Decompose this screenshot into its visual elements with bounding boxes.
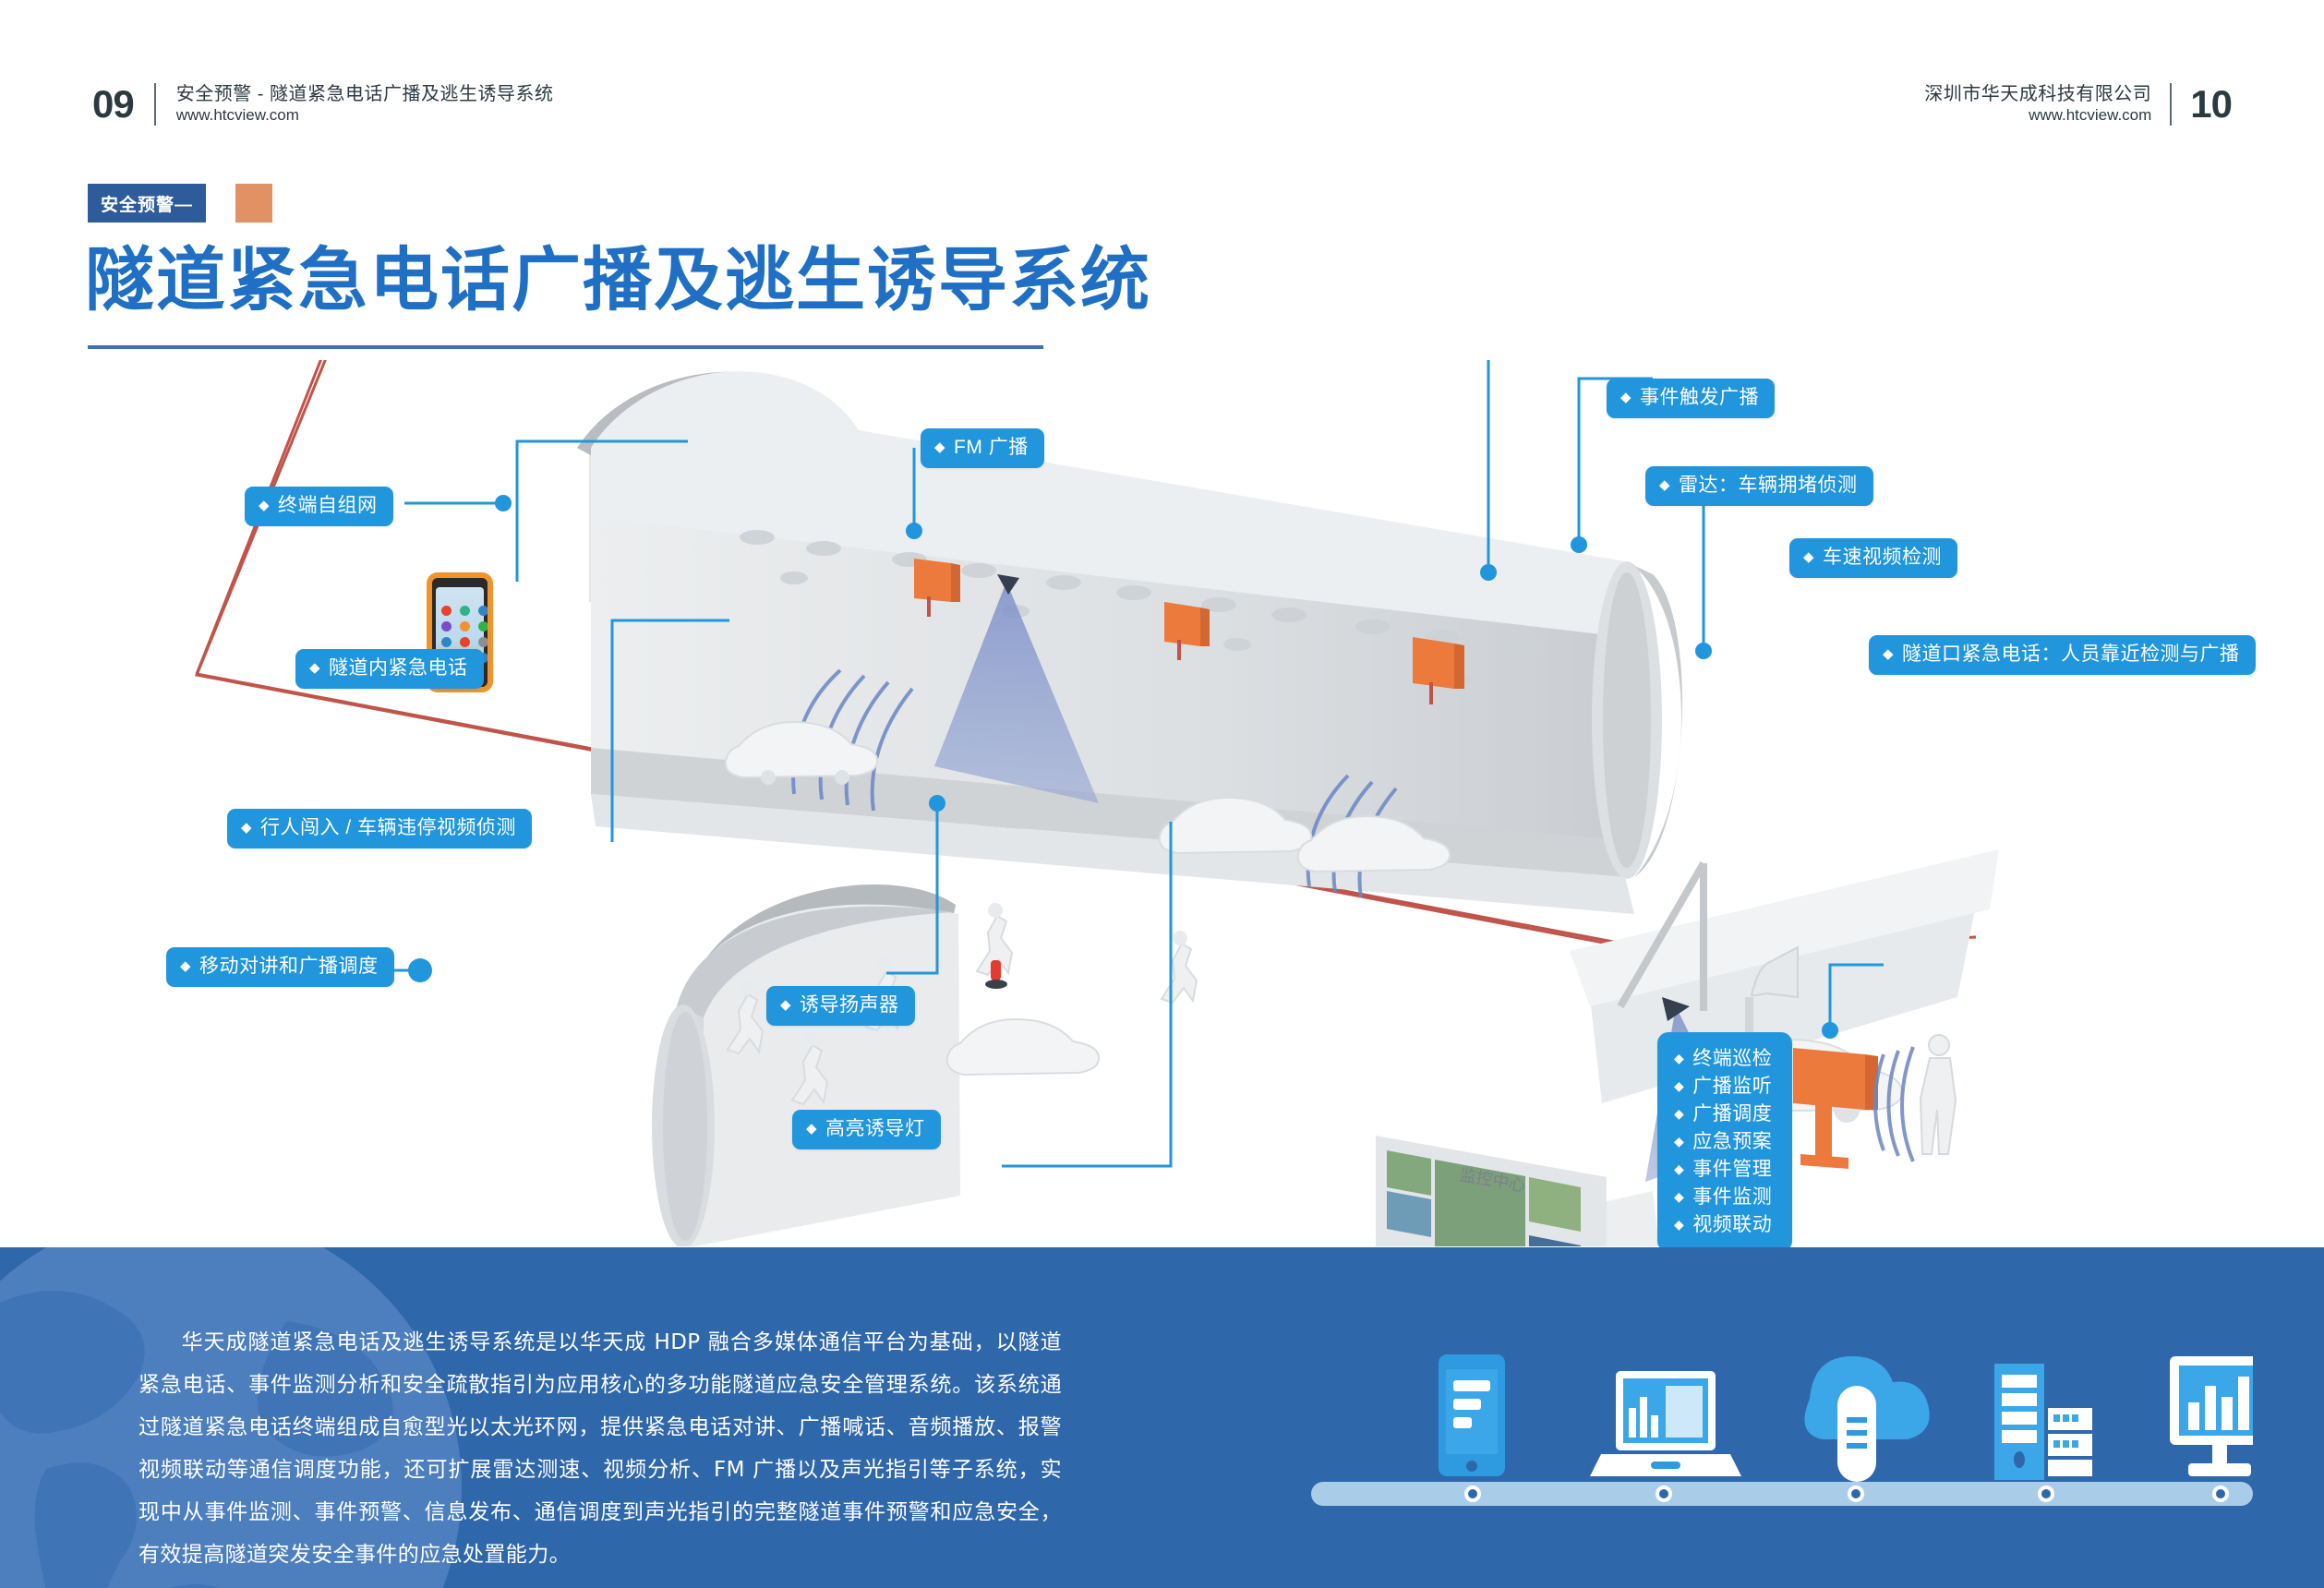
diamond-bullet-icon: ◆ — [1674, 1162, 1684, 1175]
diamond-bullet-icon: ◆ — [1674, 1107, 1684, 1120]
callout-event-triggered-broadcast[interactable]: ◆ 事件触发广播 — [1607, 379, 1775, 418]
diamond-bullet-icon: ◆ — [1803, 550, 1814, 564]
list-item-label: 应急预案 — [1692, 1128, 1772, 1156]
header-divider — [154, 83, 156, 126]
list-item[interactable]: ◆应急预案 — [1674, 1128, 1772, 1156]
callout-label: 车速视频检测 — [1823, 547, 1942, 569]
diamond-bullet-icon: ◆ — [1674, 1190, 1684, 1203]
callout-fm-broadcast[interactable]: ◆ FM 广播 — [921, 428, 1044, 468]
callout-label: 雷达：车辆拥堵侦测 — [1679, 475, 1858, 497]
list-item[interactable]: ◆广播调度 — [1674, 1101, 1772, 1128]
diamond-bullet-icon: ◆ — [934, 440, 945, 454]
callout-radar-congestion[interactable]: ◆ 雷达：车辆拥堵侦测 — [1645, 466, 1873, 506]
header-divider-right — [2170, 83, 2172, 126]
diamond-bullet-icon: ◆ — [1883, 647, 1894, 661]
list-item[interactable]: ◆广播监听 — [1674, 1073, 1772, 1101]
list-item-label: 事件监测 — [1692, 1184, 1772, 1211]
diamond-bullet-icon: ◆ — [241, 821, 252, 835]
section-tag-accent — [235, 184, 272, 223]
title-underline — [88, 345, 1043, 349]
desktop-monitor-chart-icon — [2170, 1356, 2253, 1476]
callout-label: 隧道内紧急电话 — [329, 657, 468, 680]
callout-label: 隧道口紧急电话：人员靠近检测与广播 — [1902, 644, 2240, 666]
description-paragraph: 华天成隧道紧急电话及逃生诱导系统是以华天成 HDP 融合多媒体通信平台为基础，以… — [138, 1321, 1062, 1576]
brochure-page: 09 安全预警 - 隧道紧急电话广播及逃生诱导系统 www.htcview.co… — [0, 0, 2324, 1588]
right-page-number: 10 — [2190, 83, 2232, 126]
page-header: 09 安全预警 - 隧道紧急电话广播及逃生诱导系统 www.htcview.co… — [0, 83, 2324, 138]
header-left-url: www.htcview.com — [176, 105, 554, 126]
control-center-scene: 监控中心 — [1242, 1136, 1662, 1246]
diamond-bullet-icon: ◆ — [309, 661, 320, 675]
diamond-bullet-icon: ◆ — [806, 1122, 817, 1136]
list-item-label: 终端巡检 — [1692, 1045, 1772, 1073]
callout-high-brightness-light[interactable]: ◆ 高亮诱导灯 — [792, 1110, 941, 1149]
callout-mobile-intercom[interactable]: ◆ 移动对讲和广播调度 — [166, 947, 394, 987]
list-item[interactable]: ◆终端巡检 — [1674, 1045, 1772, 1073]
header-right-url: www.htcview.com — [1924, 105, 2151, 126]
bottom-description-panel: 华天成隧道紧急电话及逃生诱导系统是以华天成 HDP 融合多媒体通信平台为基础，以… — [0, 1247, 2324, 1588]
diamond-bullet-icon: ◆ — [1620, 391, 1632, 404]
diamond-bullet-icon: ◆ — [180, 959, 191, 973]
callout-in-tunnel-emergency-phone[interactable]: ◆ 隧道内紧急电话 — [295, 649, 484, 689]
list-item[interactable]: ◆视频联动 — [1674, 1211, 1772, 1239]
callout-label: 终端自组网 — [278, 495, 378, 517]
section-tag: 安全预警— — [88, 184, 206, 223]
callout-portal-emergency-phone[interactable]: ◆ 隧道口紧急电话：人员靠近检测与广播 — [1869, 635, 2256, 675]
page-title: 隧道紧急电话广播及逃生诱导系统 — [85, 238, 1151, 321]
callout-guidance-loudspeaker[interactable]: ◆ 诱导扬声器 — [766, 986, 915, 1026]
header-left: 09 安全预警 - 隧道紧急电话广播及逃生诱导系统 www.htcview.co… — [92, 83, 554, 126]
callout-label: 移动对讲和广播调度 — [199, 956, 379, 978]
company-name: 深圳市华天成科技有限公司 — [1924, 83, 2151, 105]
list-item-label: 广播调度 — [1692, 1101, 1772, 1128]
callout-terminal-mesh-network[interactable]: ◆ 终端自组网 — [245, 487, 393, 526]
list-item-label: 事件管理 — [1692, 1156, 1772, 1184]
list-item-label: 视频联动 — [1692, 1211, 1772, 1239]
header-right: 深圳市华天成科技有限公司 www.htcview.com 10 — [1924, 83, 2232, 126]
callout-label: 诱导扬声器 — [800, 994, 899, 1017]
callout-label: 高亮诱导灯 — [825, 1118, 925, 1140]
callout-label: FM 广播 — [954, 437, 1029, 459]
laptop-chart-icon — [1590, 1371, 1741, 1476]
pedestrian-icon — [1921, 1035, 1956, 1154]
left-page-number: 09 — [92, 83, 134, 126]
cloud-server-icon — [1804, 1356, 1929, 1482]
list-item[interactable]: ◆事件监测 — [1674, 1184, 1772, 1211]
callout-speed-video-detection[interactable]: ◆ 车速视频检测 — [1789, 538, 1957, 578]
diamond-bullet-icon: ◆ — [1659, 478, 1670, 492]
diamond-bullet-icon: ◆ — [1674, 1079, 1684, 1092]
device-icon-row — [1311, 1343, 2253, 1528]
diamond-bullet-icon: ◆ — [780, 998, 791, 1012]
callout-label: 行人闯入 / 车辆违停视频侦测 — [260, 817, 516, 839]
timeline-rail — [1311, 1482, 2253, 1506]
diamond-bullet-icon: ◆ — [1674, 1218, 1684, 1231]
diamond-bullet-icon: ◆ — [259, 499, 270, 512]
diamond-bullet-icon: ◆ — [1674, 1052, 1684, 1065]
smartphone-icon — [1439, 1354, 1505, 1476]
diamond-bullet-icon: ◆ — [1674, 1135, 1684, 1148]
list-item-label: 广播监听 — [1692, 1073, 1772, 1101]
callout-pedestrian-vehicle-video[interactable]: ◆ 行人闯入 / 车辆违停视频侦测 — [227, 809, 532, 848]
callout-label: 事件触发广播 — [1640, 387, 1759, 409]
server-rack-icon — [1994, 1364, 2092, 1480]
control-center-feature-list[interactable]: ◆终端巡检 ◆广播监听 ◆广播调度 ◆应急预案 ◆事件管理 ◆事件监测 ◆视频联… — [1657, 1032, 1792, 1252]
description-text: 华天成隧道紧急电话及逃生诱导系统是以华天成 HDP 融合多媒体通信平台为基础，以… — [138, 1330, 1062, 1567]
list-item[interactable]: ◆事件管理 — [1674, 1156, 1772, 1184]
header-breadcrumb: 安全预警 - 隧道紧急电话广播及逃生诱导系统 — [176, 83, 554, 105]
